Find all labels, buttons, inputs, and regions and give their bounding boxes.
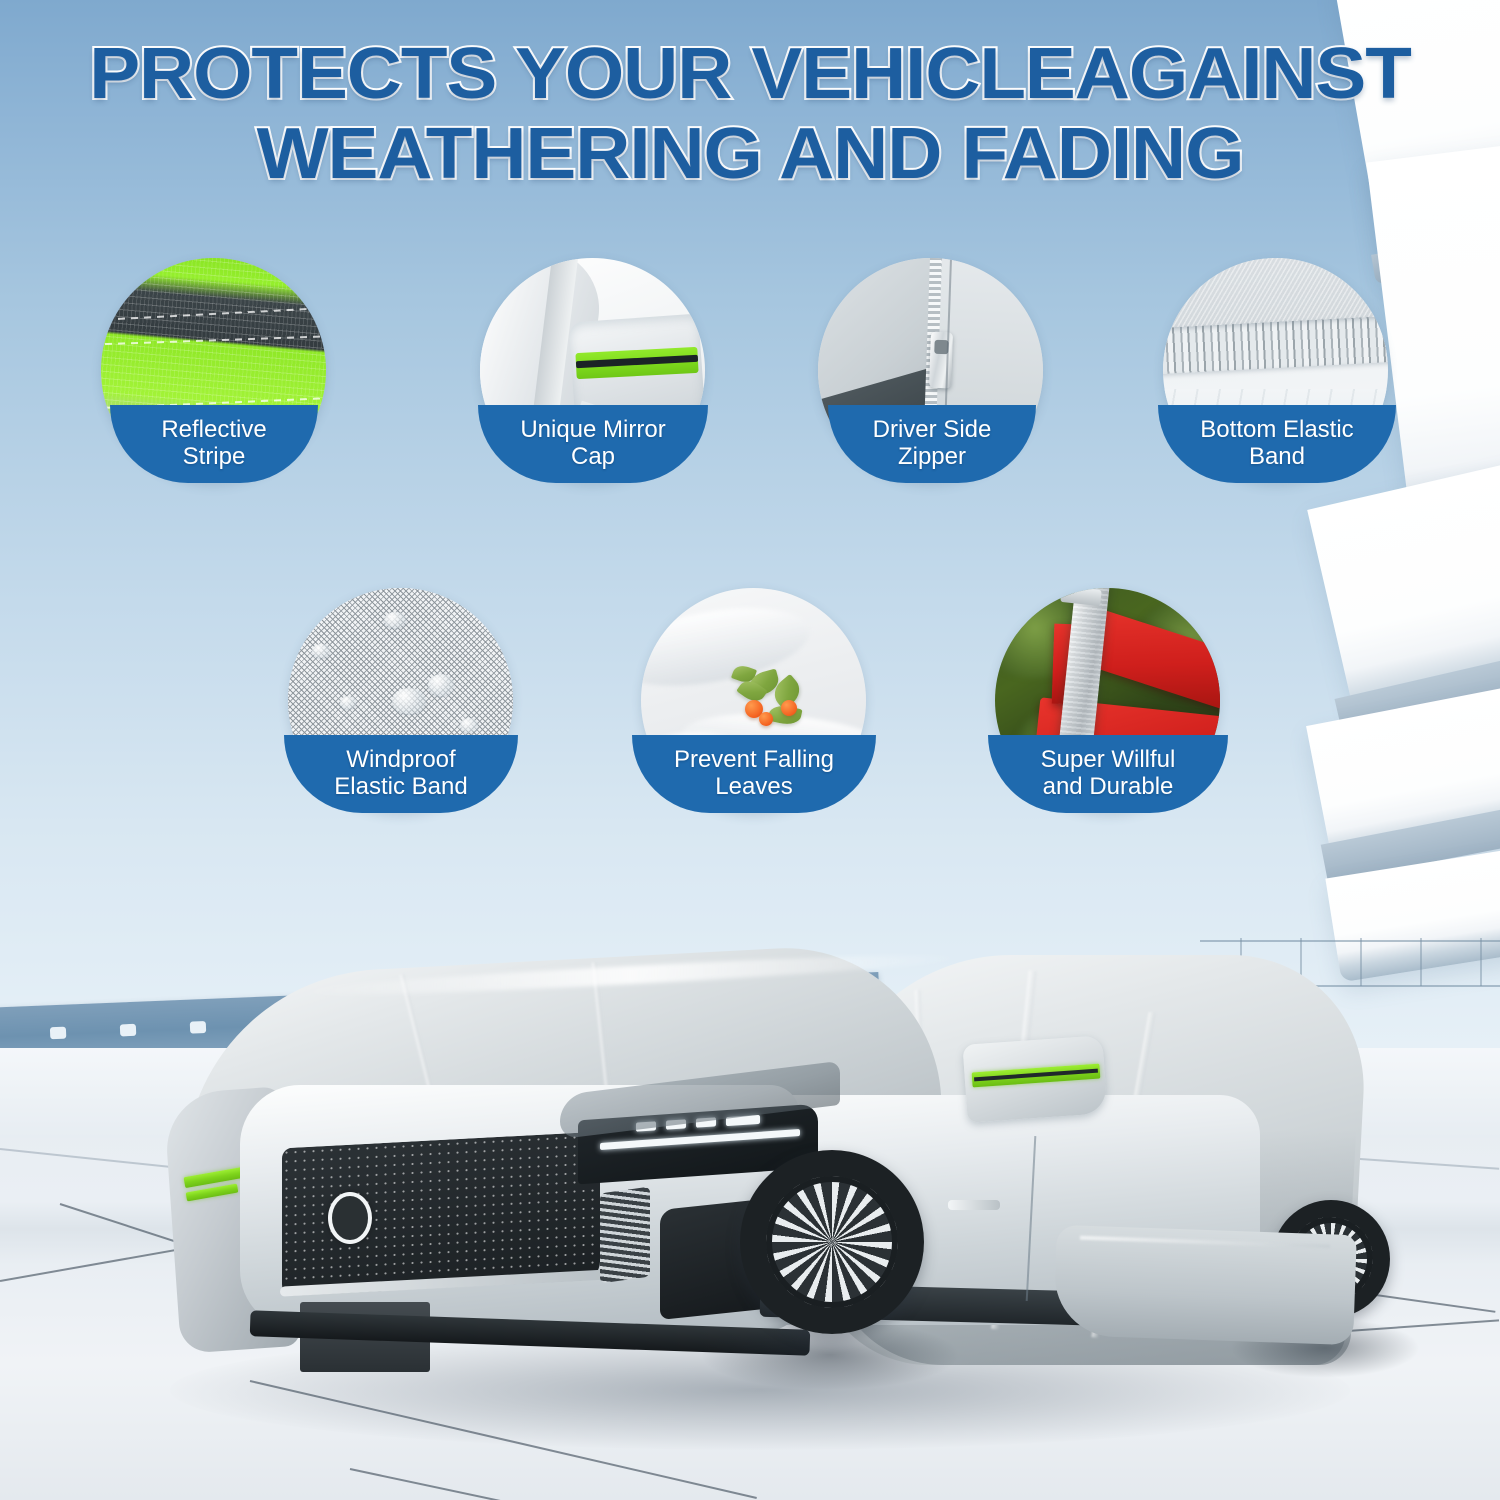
feature-unique-mirror-cap[interactable] <box>480 258 705 483</box>
feature-image-reflective-stripe <box>101 258 326 483</box>
car-door-handle <box>948 1200 1000 1210</box>
car-air-intake <box>600 1186 650 1283</box>
feature-image-bottom-elastic-band <box>1163 258 1388 483</box>
car-emblem <box>328 1192 372 1244</box>
feature-image-super-willful-and-durable <box>995 588 1220 813</box>
feature-prevent-falling-leaves[interactable] <box>641 588 866 813</box>
product-infographic: PROTECTS YOUR VEHICLEAGAINST WEATHERING … <box>0 0 1500 1500</box>
feature-image-unique-mirror-cap <box>480 258 705 483</box>
feature-bottom-elastic-band[interactable] <box>1163 258 1388 483</box>
feature-windproof-elastic-band[interactable] <box>288 588 513 813</box>
front-wheel <box>740 1150 924 1334</box>
feature-reflective-stripe[interactable] <box>101 258 326 483</box>
feature-image-prevent-falling-leaves <box>641 588 866 813</box>
page-title: PROTECTS YOUR VEHICLEAGAINST WEATHERING … <box>0 40 1500 189</box>
feature-image-windproof-elastic-band <box>288 588 513 813</box>
headline-line-1: PROTECTS YOUR VEHICLEAGAINST <box>0 40 1500 108</box>
headline-line-2: WEATHERING AND FADING <box>0 120 1500 188</box>
feature-super-willful-and-durable[interactable] <box>995 588 1220 813</box>
feature-driver-side-zipper[interactable] <box>818 258 1043 483</box>
product-hero-car-with-cover <box>0 900 1500 1500</box>
feature-image-driver-side-zipper <box>818 258 1043 483</box>
